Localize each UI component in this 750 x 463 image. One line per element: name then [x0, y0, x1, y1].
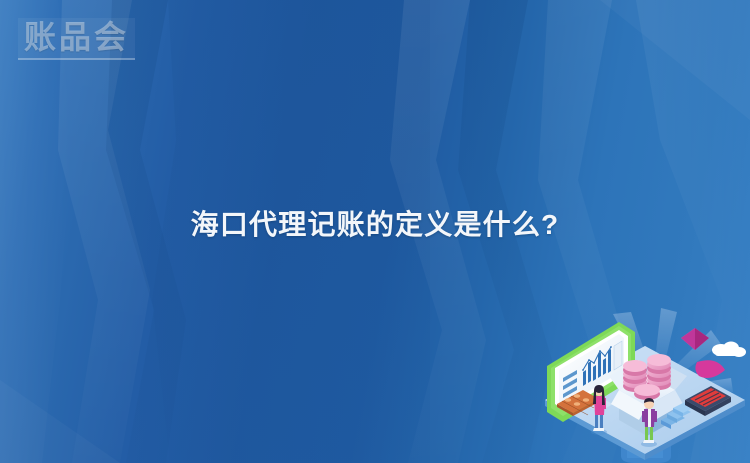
slide-title: 海口代理记账的定义是什么? [0, 208, 750, 242]
site-logo-watermark: 账品会 [18, 18, 135, 60]
site-logo-text: 账品会 [24, 21, 129, 53]
slide-canvas: 账品会 海口代理记账的定义是什么? [0, 0, 750, 463]
isometric-illustration [535, 308, 750, 463]
coin-stack-front [634, 384, 660, 400]
slide-title-text: 海口代理记账的定义是什么? [191, 208, 560, 242]
screen-side-panel [614, 341, 622, 370]
magenta-leaf-shape [695, 360, 725, 378]
